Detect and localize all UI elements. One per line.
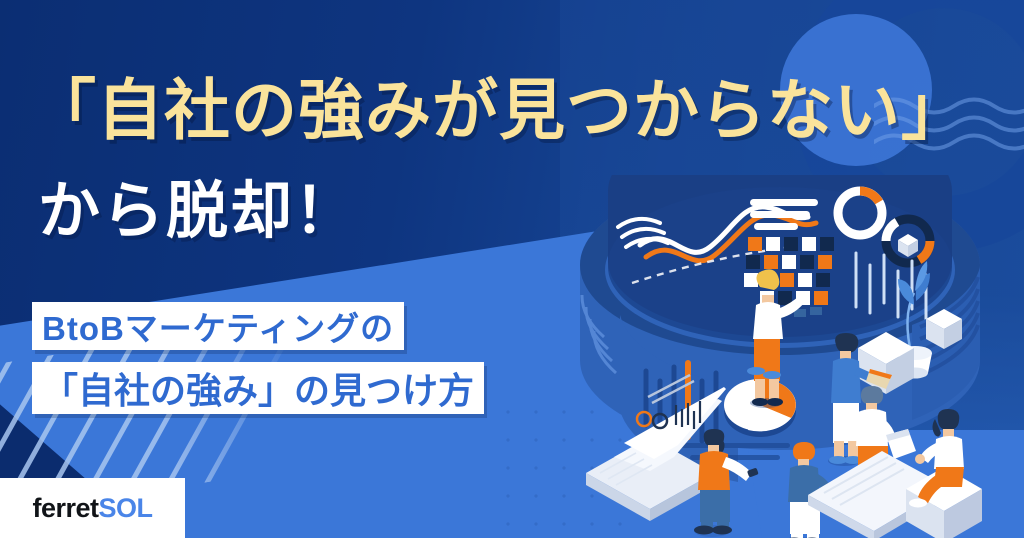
subtitle-text-2: 「自社の強み」の見つけ方 — [42, 362, 474, 414]
headline-line-2: から脱却！ — [38, 178, 358, 246]
subtitle-box-1: BtoBマーケティングの — [32, 302, 404, 350]
headline-line-1: 「自社の強みが見つからない」 — [30, 76, 990, 146]
subtitle-text-1: BtoBマーケティングの — [42, 302, 394, 350]
brand-logo[interactable]: ferretSOL — [0, 478, 185, 538]
marketing-banner: 「自社の強みが見つからない」 から脱却！ BtoBマーケティングの 「自社の強み… — [0, 0, 1024, 538]
subtitle-box-2: 「自社の強み」の見つけ方 — [32, 362, 484, 414]
logo-secondary-text: SOL — [99, 493, 153, 523]
isometric-data-dashboard-illustration — [560, 175, 1024, 538]
logo-primary-text: ferret — [32, 493, 98, 523]
